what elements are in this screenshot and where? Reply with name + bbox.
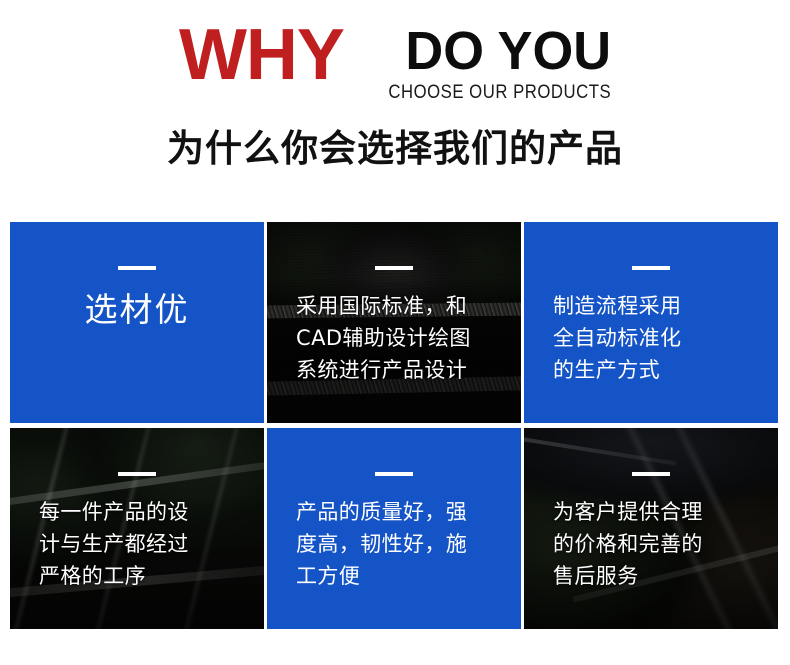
banner-header: WHY DO YOU CHOOSE OUR PRODUCTS 为什么你会选择我们…: [0, 0, 790, 200]
divider-dash-icon: [118, 266, 156, 270]
feature-cell-1: 选材优: [10, 222, 264, 423]
feature-cell-2-content: 采用国际标准，和 CAD辅助设计绘图 系统进行产品设计: [267, 222, 521, 423]
feature-grid: 选材优 采用国际标准，和 CAD辅助设计绘图 系统进行产品设计 制造流程采用: [10, 222, 778, 635]
divider-dash-icon: [375, 472, 413, 476]
feature-cell-6: 为客户提供合理 的价格和完善的 售后服务: [524, 428, 778, 629]
feature-cell-4-content: 每一件产品的设 计与生产都经过 严格的工序: [10, 428, 264, 629]
promo-banner: WHY DO YOU CHOOSE OUR PRODUCTS 为什么你会选择我们…: [0, 0, 790, 665]
feature-cell-2-line-1: 采用国际标准，和: [296, 290, 492, 322]
feature-cell-4: 每一件产品的设 计与生产都经过 严格的工序: [10, 428, 264, 629]
feature-cell-4-line-2: 计与生产都经过: [39, 528, 235, 560]
feature-cell-3-text: 制造流程采用 全自动标准化 的生产方式: [553, 290, 749, 386]
feature-cell-3-line-1: 制造流程采用: [553, 290, 749, 322]
feature-cell-4-text: 每一件产品的设 计与生产都经过 严格的工序: [39, 496, 235, 592]
headline-highlight: WHY: [179, 18, 344, 92]
feature-cell-2-line-3: 系统进行产品设计: [296, 354, 492, 386]
feature-cell-4-line-3: 严格的工序: [39, 560, 235, 592]
feature-cell-3-content: 制造流程采用 全自动标准化 的生产方式: [524, 222, 778, 423]
feature-cell-3-line-2: 全自动标准化: [553, 322, 749, 354]
feature-cell-5-line-3: 工方便: [296, 560, 492, 592]
feature-cell-5-content: 产品的质量好，强 度高，韧性好，施 工方便: [267, 428, 521, 629]
divider-dash-icon: [118, 472, 156, 476]
feature-cell-6-text: 为客户提供合理 的价格和完善的 售后服务: [553, 496, 749, 592]
feature-cell-4-line-1: 每一件产品的设: [39, 496, 235, 528]
feature-cell-6-line-2: 的价格和完善的: [553, 528, 749, 560]
feature-cell-6-line-1: 为客户提供合理: [553, 496, 749, 528]
feature-cell-2-text: 采用国际标准，和 CAD辅助设计绘图 系统进行产品设计: [296, 290, 492, 386]
feature-cell-1-content: 选材优: [10, 222, 264, 423]
headline-row: WHY DO YOU CHOOSE OUR PRODUCTS: [0, 18, 790, 96]
divider-dash-icon: [632, 472, 670, 476]
feature-cell-6-line-3: 售后服务: [553, 560, 749, 592]
feature-cell-2-line-2: CAD辅助设计绘图: [296, 322, 492, 354]
feature-cell-5-text: 产品的质量好，强 度高，韧性好，施 工方便: [296, 496, 492, 592]
feature-cell-5-line-1: 产品的质量好，强: [296, 496, 492, 528]
feature-cell-1-text: 选材优: [85, 290, 190, 330]
headline-sub-english: CHOOSE OUR PRODUCTS: [388, 82, 611, 104]
feature-cell-3-line-3: 的生产方式: [553, 354, 749, 386]
feature-cell-5-line-2: 度高，韧性好，施: [296, 528, 492, 560]
feature-cell-3: 制造流程采用 全自动标准化 的生产方式: [524, 222, 778, 423]
divider-dash-icon: [375, 266, 413, 270]
feature-cell-6-content: 为客户提供合理 的价格和完善的 售后服务: [524, 428, 778, 629]
feature-cell-5: 产品的质量好，强 度高，韧性好，施 工方便: [267, 428, 521, 629]
headline-right-block: DO YOU CHOOSE OUR PRODUCTS: [358, 18, 611, 104]
divider-dash-icon: [632, 266, 670, 270]
headline-subtitle-chinese: 为什么你会选择我们的产品: [0, 126, 790, 172]
feature-cell-2: 采用国际标准，和 CAD辅助设计绘图 系统进行产品设计: [267, 222, 521, 423]
headline-rest: DO YOU: [405, 23, 611, 79]
